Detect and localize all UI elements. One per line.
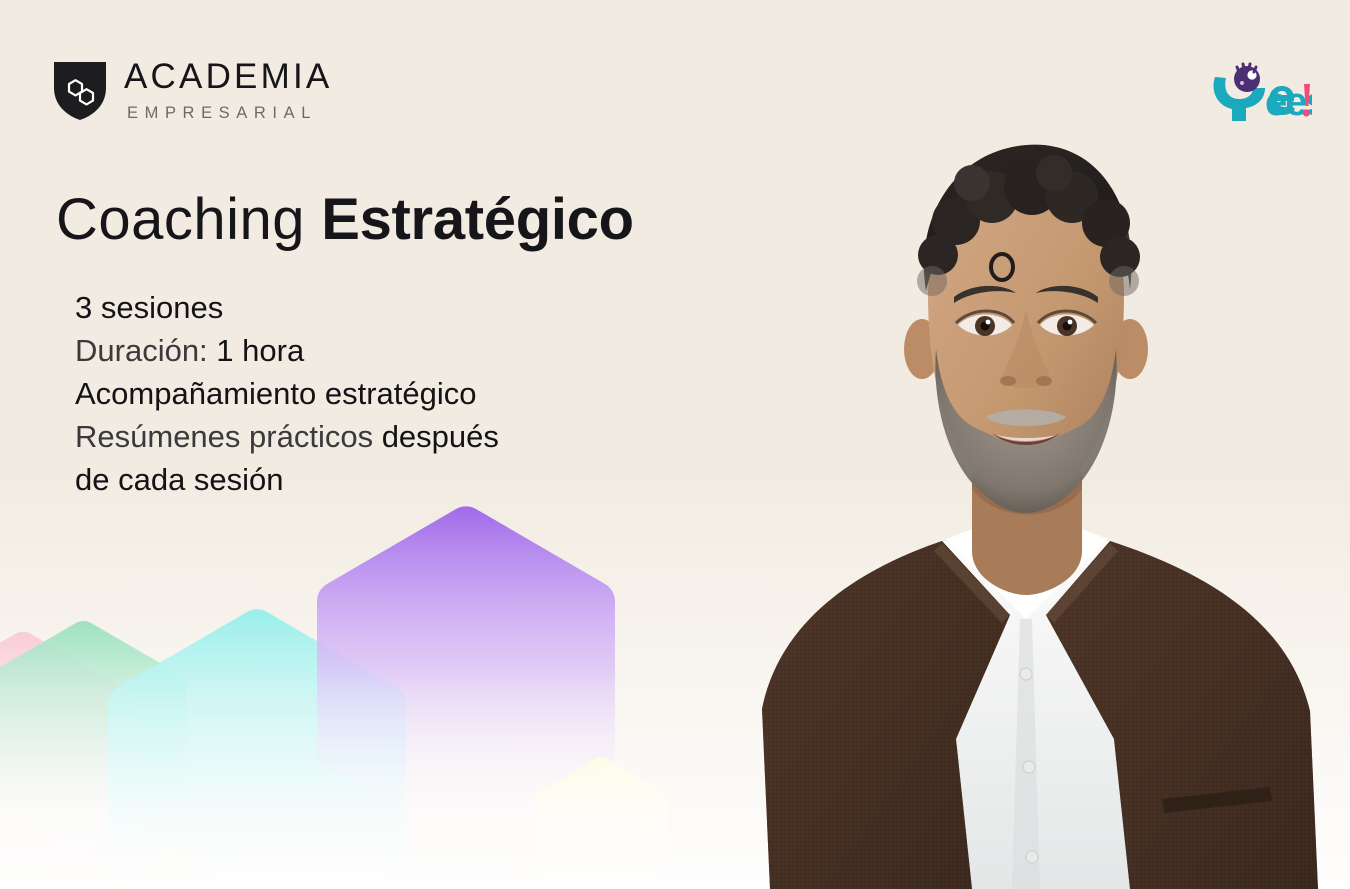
brand-logo: ACADEMIA EMPRESARIAL	[52, 58, 332, 122]
feature-text: 3 sesiones	[75, 290, 223, 325]
portrait-neck	[972, 471, 1082, 595]
feature-label: Duración:	[75, 333, 216, 368]
brand-subtitle: EMPRESARIAL	[127, 105, 332, 122]
feature-line-summaries: Resúmenes prácticos después	[75, 415, 499, 458]
brand-wordmark: ACADEMIA EMPRESARIAL	[124, 59, 332, 122]
feature-line-summaries-cont: de cada sesión	[75, 458, 499, 501]
portrait-mustache	[986, 410, 1066, 427]
portrait-mouth	[992, 433, 1060, 445]
feature-list: 3 sesiones Duración: 1 hora Acompañamien…	[75, 286, 499, 501]
portrait-shirt-button	[1023, 761, 1035, 773]
portrait-teeth	[996, 435, 1056, 441]
hexagon-green	[0, 621, 186, 855]
page-title: Coaching Estratégico	[56, 190, 634, 251]
portrait-eye	[956, 311, 1014, 336]
shield-hexagons-icon	[52, 58, 108, 122]
portrait-shirt-placket	[1012, 619, 1040, 889]
portrait-eyebrow	[1036, 286, 1098, 303]
feature-text: Acompañamiento estratégico	[75, 376, 477, 411]
feature-label: Resúmenes prácticos	[75, 419, 382, 454]
portrait-ear	[1112, 319, 1148, 379]
hexagon-yellow-right	[534, 757, 668, 889]
portrait-nostril	[1036, 376, 1052, 386]
portrait-vest-right	[1046, 541, 1318, 889]
portrait-eye	[1038, 311, 1096, 336]
portrait-vest-lapel	[934, 543, 1010, 623]
title-light-part: Coaching	[56, 187, 305, 252]
portrait-vest-left	[762, 541, 1010, 889]
portrait-shirt-button	[1020, 668, 1032, 680]
feature-value: después	[382, 419, 499, 454]
hexagon-yellow-small	[99, 849, 237, 889]
portrait-collar	[946, 529, 1108, 619]
hexagon-cyan	[108, 609, 406, 889]
feature-line-sessions: 3 sesiones	[75, 286, 499, 329]
hexagon-cluster	[0, 489, 720, 889]
instructor-portrait	[710, 99, 1350, 889]
bottom-fade	[0, 469, 1350, 889]
portrait-face	[928, 175, 1124, 503]
yees-eye-icon: ees	[1208, 62, 1312, 124]
feature-line-support: Acompañamiento estratégico	[75, 372, 499, 415]
portrait-neck-shadow	[972, 471, 1082, 515]
portrait-shirt	[762, 541, 1318, 889]
portrait-vest-lapel	[1046, 543, 1118, 623]
hexagon-purple	[317, 506, 615, 847]
hexagon-pink	[0, 632, 134, 884]
portrait-nose	[1000, 309, 1052, 388]
feature-value: 1 hora	[216, 333, 304, 368]
portrait-hair	[917, 145, 1140, 296]
portrait-shirt-button	[1026, 851, 1038, 863]
portrait-eyebrow	[954, 286, 1016, 303]
brand-name: ACADEMIA	[124, 59, 332, 94]
portrait-vest-pocket	[1162, 787, 1272, 813]
promo-card: ACADEMIA EMPRESARIAL ees	[0, 0, 1350, 889]
feature-text: de cada sesión	[75, 462, 284, 497]
portrait-ear	[904, 319, 940, 379]
portrait-nostril	[1000, 376, 1016, 386]
title-bold-part: Estratégico	[321, 187, 634, 252]
feature-line-duration: Duración: 1 hora	[75, 329, 499, 372]
portrait-beard	[935, 349, 1116, 513]
